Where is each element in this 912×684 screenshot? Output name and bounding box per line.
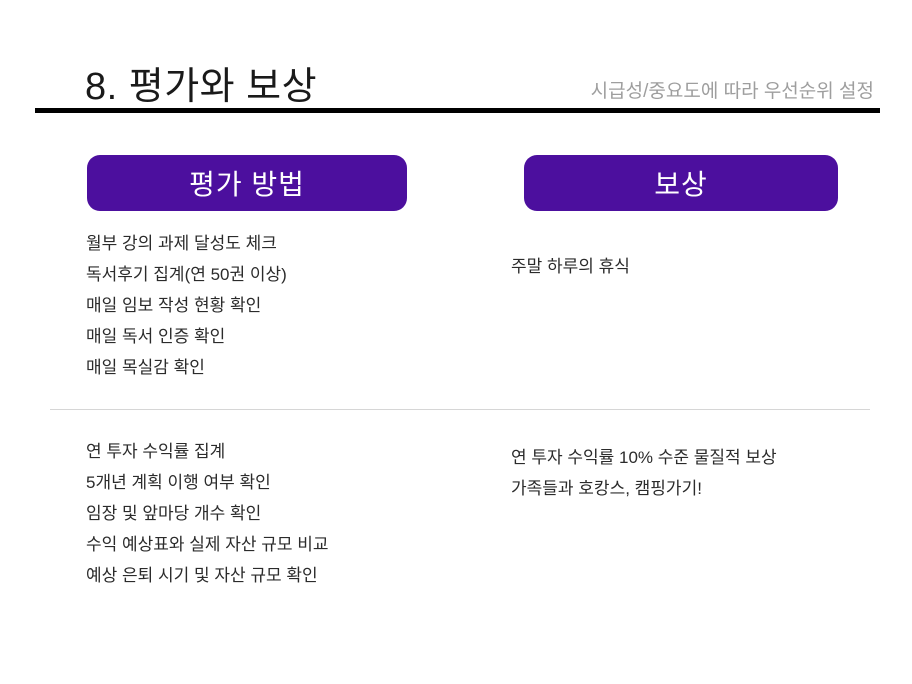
list-item: 독서후기 집계(연 50권 이상) bbox=[86, 259, 287, 290]
list-item: 예상 은퇴 시기 및 자산 규모 확인 bbox=[86, 560, 329, 591]
list-evaluation-top: 월부 강의 과제 달성도 체크 독서후기 집계(연 50권 이상) 매일 임보 … bbox=[86, 228, 287, 383]
slide-canvas: 8. 평가와 보상 시급성/중요도에 따라 우선순위 설정 평가 방법 보상 월… bbox=[0, 0, 912, 684]
list-item: 연 투자 수익률 10% 수준 물질적 보상 bbox=[511, 442, 777, 473]
column-heading-reward: 보상 bbox=[524, 155, 838, 211]
section-divider bbox=[50, 409, 870, 410]
list-item: 월부 강의 과제 달성도 체크 bbox=[86, 228, 287, 259]
list-item: 매일 목실감 확인 bbox=[86, 352, 287, 383]
list-item: 주말 하루의 휴식 bbox=[511, 251, 630, 282]
list-reward-top: 주말 하루의 휴식 bbox=[511, 251, 630, 282]
slide-header: 8. 평가와 보상 시급성/중요도에 따라 우선순위 설정 bbox=[35, 50, 880, 108]
header-divider-rule bbox=[35, 108, 880, 113]
list-item: 매일 임보 작성 현황 확인 bbox=[86, 290, 287, 321]
list-item: 임장 및 앞마당 개수 확인 bbox=[86, 498, 329, 529]
list-item: 매일 독서 인증 확인 bbox=[86, 321, 287, 352]
list-item: 5개년 계획 이행 여부 확인 bbox=[86, 467, 329, 498]
list-reward-bottom: 연 투자 수익률 10% 수준 물질적 보상 가족들과 호캉스, 캠핑가기! bbox=[511, 442, 777, 504]
column-reward: 보상 bbox=[524, 155, 838, 211]
list-item: 연 투자 수익률 집계 bbox=[86, 436, 329, 467]
list-evaluation-bottom: 연 투자 수익률 집계 5개년 계획 이행 여부 확인 임장 및 앞마당 개수 … bbox=[86, 436, 329, 591]
column-heading-evaluation-method: 평가 방법 bbox=[87, 155, 407, 211]
list-item: 수익 예상표와 실제 자산 규모 비교 bbox=[86, 529, 329, 560]
list-item: 가족들과 호캉스, 캠핑가기! bbox=[511, 473, 777, 504]
column-evaluation-method: 평가 방법 bbox=[87, 155, 407, 211]
page-title: 8. 평가와 보상 bbox=[35, 68, 317, 108]
slide-subtitle: 시급성/중요도에 따라 우선순위 설정 bbox=[591, 76, 880, 108]
